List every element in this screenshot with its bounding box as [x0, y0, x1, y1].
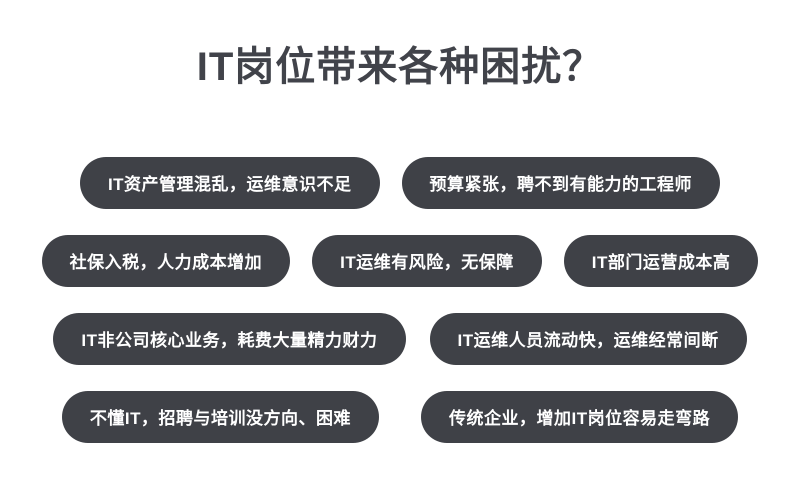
pain-point-label: 预算紧张，聘不到有能力的工程师 — [430, 170, 693, 195]
pain-point-pill: 社保入税，人力成本增加 — [42, 235, 291, 287]
page-title: IT岗位带来各种困扰？ — [197, 44, 604, 90]
pain-point-pill: 传统企业，增加IT岗位容易走弯路 — [421, 391, 738, 443]
pill-row: 社保入税，人力成本增加 IT运维有风险，无保障 IT部门运营成本高 — [20, 235, 780, 287]
pain-point-label: IT运维人员流动快，运维经常间断 — [458, 326, 719, 351]
pain-point-pill: IT运维人员流动快，运维经常间断 — [430, 313, 747, 365]
pain-point-label: IT运维有风险，无保障 — [340, 248, 514, 273]
pain-point-pill-group: IT资产管理混乱，运维意识不足 预算紧张，聘不到有能力的工程师 社保入税，人力成… — [20, 157, 780, 443]
pain-point-pill: IT运维有风险，无保障 — [312, 235, 542, 287]
pain-point-pill: IT部门运营成本高 — [564, 235, 759, 287]
pain-point-pill: 不懂IT，招聘与培训没方向、困难 — [62, 391, 379, 443]
pain-point-pill: 预算紧张，聘不到有能力的工程师 — [402, 157, 721, 209]
pain-point-label: 传统企业，增加IT岗位容易走弯路 — [449, 404, 710, 429]
pain-point-label: 不懂IT，招聘与培训没方向、困难 — [90, 404, 351, 429]
pain-point-label: IT资产管理混乱，运维意识不足 — [108, 170, 352, 195]
pain-point-pill: IT资产管理混乱，运维意识不足 — [80, 157, 380, 209]
pain-point-label: 社保入税，人力成本增加 — [70, 248, 263, 273]
pill-row: IT资产管理混乱，运维意识不足 预算紧张，聘不到有能力的工程师 — [20, 157, 780, 209]
pill-row: IT非公司核心业务，耗费大量精力财力 IT运维人员流动快，运维经常间断 — [20, 313, 780, 365]
pill-row: 不懂IT，招聘与培训没方向、困难 传统企业，增加IT岗位容易走弯路 — [20, 391, 780, 443]
pain-point-label: IT部门运营成本高 — [592, 248, 731, 273]
pain-point-label: IT非公司核心业务，耗费大量精力财力 — [81, 326, 377, 351]
pain-point-pill: IT非公司核心业务，耗费大量精力财力 — [53, 313, 405, 365]
infographic-poster: IT岗位带来各种困扰？ IT资产管理混乱，运维意识不足 预算紧张，聘不到有能力的… — [0, 0, 800, 500]
